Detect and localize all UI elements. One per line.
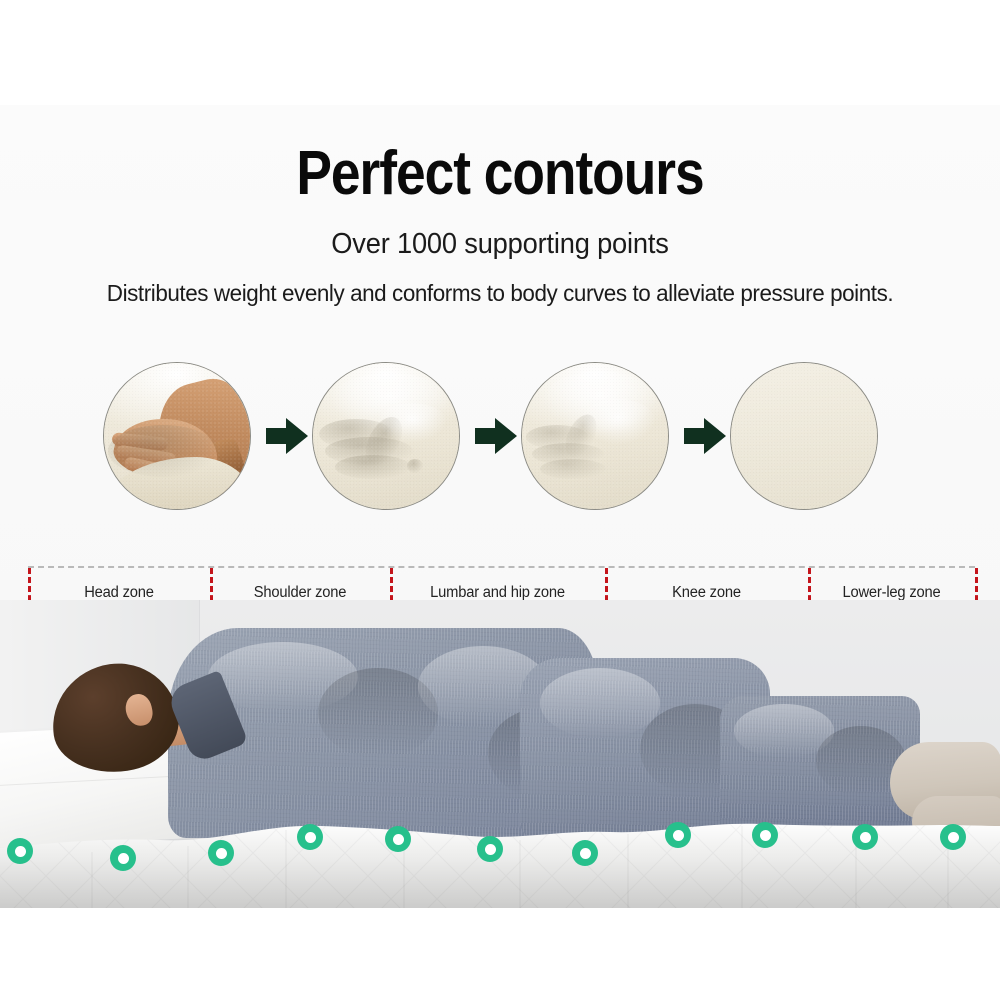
foam-grain bbox=[313, 363, 459, 509]
support-point bbox=[208, 840, 234, 866]
foam-grain bbox=[731, 363, 877, 509]
support-point bbox=[852, 824, 878, 850]
foam-recovery-sequence bbox=[0, 362, 1000, 512]
foam-step-imprint-fading-icon bbox=[521, 362, 669, 510]
foam-step-hand-pressing-icon bbox=[103, 362, 251, 510]
bottom-white-band bbox=[0, 908, 1000, 1000]
page-title: Perfect contours bbox=[70, 143, 930, 205]
support-point bbox=[940, 824, 966, 850]
page-description: Distributes weight evenly and conforms t… bbox=[23, 280, 978, 307]
support-point bbox=[572, 840, 598, 866]
support-point bbox=[385, 826, 411, 852]
support-point bbox=[752, 822, 778, 848]
arrow-right-icon bbox=[475, 416, 517, 456]
foam-step-imprint-deep-icon bbox=[312, 362, 460, 510]
support-point bbox=[665, 822, 691, 848]
zone-top-divider bbox=[28, 566, 975, 568]
page-subtitle: Over 1000 supporting points bbox=[30, 228, 970, 261]
arrow-right-icon bbox=[684, 416, 726, 456]
foam-step-recovered-icon bbox=[730, 362, 878, 510]
support-point bbox=[7, 838, 33, 864]
arrow-right-icon bbox=[266, 416, 308, 456]
support-point bbox=[297, 824, 323, 850]
product-feature-banner: Perfect contours Over 1000 supporting po… bbox=[0, 0, 1000, 1000]
mattress bbox=[0, 600, 1000, 910]
support-point bbox=[110, 845, 136, 871]
support-point bbox=[477, 836, 503, 862]
foam-grain bbox=[522, 363, 668, 509]
foam-grain bbox=[104, 363, 250, 509]
sleeper-photo bbox=[0, 600, 1000, 910]
